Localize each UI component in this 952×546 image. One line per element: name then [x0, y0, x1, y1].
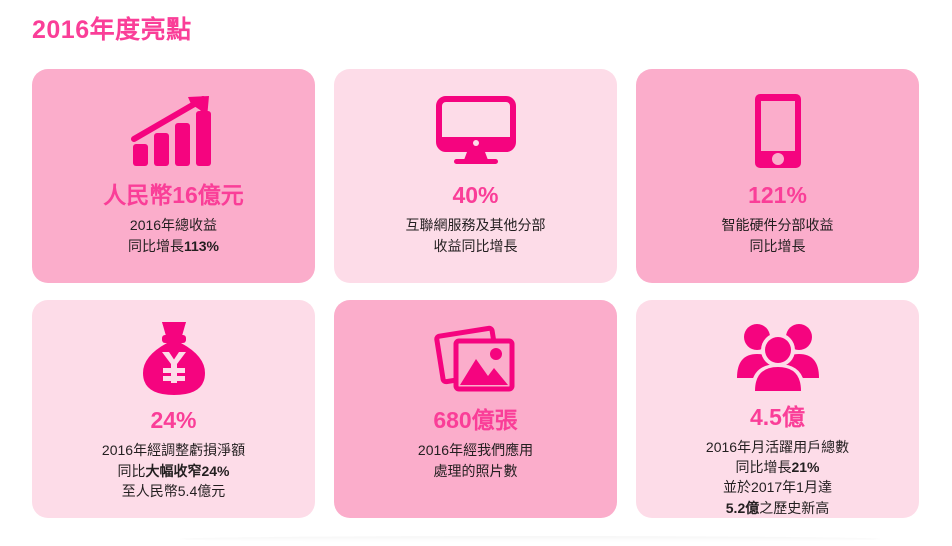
- stat-description: 2016年經我們應用 處理的照片數: [418, 440, 533, 481]
- photos-stack-icon: [434, 312, 518, 404]
- stat-description: 智能硬件分部收益 同比增長: [722, 215, 834, 256]
- stat-line: 處理的照片數: [418, 461, 533, 481]
- stat-description: 2016年總收益 同比增長113%: [128, 215, 219, 256]
- stat-line: 同比增長113%: [128, 236, 219, 256]
- monitor-icon: [434, 83, 518, 179]
- bar-chart-growth-icon: [131, 83, 217, 179]
- stat-value: 121%: [748, 183, 807, 208]
- page-shadow: [180, 536, 880, 542]
- stat-line: 2016年經調整虧損淨額: [102, 440, 245, 460]
- stat-line: 同比增長: [722, 236, 834, 256]
- smartphone-icon: [752, 83, 804, 179]
- stat-value: 24%: [150, 408, 196, 433]
- stat-line: 2016年總收益: [128, 215, 219, 235]
- highlights-grid: 人民幣16億元 2016年總收益 同比增長113%: [32, 69, 920, 518]
- infographic-page: 2016年度亮點 人民幣16: [0, 0, 952, 546]
- stat-description: 2016年經調整虧損淨額 同比大幅收窄24% 至人民幣5.4億元: [102, 440, 245, 501]
- stat-line: 至人民幣5.4億元: [102, 481, 245, 501]
- stat-value: 人民幣16億元: [103, 183, 244, 208]
- highlight-card-smart-hardware: 121% 智能硬件分部收益 同比增長: [636, 69, 919, 283]
- highlight-card-internet-services: 40% 互聯網服務及其他分部 收益同比增長: [334, 69, 617, 283]
- highlight-card-mau: 4.5億 2016年月活躍用戶總數 同比增長21% 並於2017年1月達 5.2…: [636, 300, 919, 518]
- stat-value: 680億張: [433, 408, 517, 433]
- stat-description: 2016年月活躍用戶總數 同比增長21% 並於2017年1月達 5.2億之歷史新…: [706, 437, 849, 518]
- stat-line: 2016年月活躍用戶總數: [706, 437, 849, 457]
- users-group-icon: [734, 312, 822, 401]
- stat-value: 4.5億: [750, 405, 805, 430]
- stat-description: 互聯網服務及其他分部 收益同比增長: [406, 215, 546, 256]
- stat-line: 互聯網服務及其他分部: [406, 215, 546, 235]
- stat-line: 收益同比增長: [406, 236, 546, 256]
- stat-line: 5.2億之歷史新高: [706, 498, 849, 518]
- highlight-card-revenue: 人民幣16億元 2016年總收益 同比增長113%: [32, 69, 315, 283]
- stat-line: 2016年經我們應用: [418, 440, 533, 460]
- highlight-card-adjusted-loss: 24% 2016年經調整虧損淨額 同比大幅收窄24% 至人民幣5.4億元: [32, 300, 315, 518]
- stat-line: 同比增長21%: [706, 457, 849, 477]
- page-title: 2016年度亮點: [32, 10, 192, 46]
- stat-value: 40%: [452, 183, 498, 208]
- stat-line: 並於2017年1月達: [706, 477, 849, 497]
- highlight-card-photos: 680億張 2016年經我們應用 處理的照片數: [334, 300, 617, 518]
- stat-line: 同比大幅收窄24%: [102, 461, 245, 481]
- stat-line: 智能硬件分部收益: [722, 215, 834, 235]
- money-bag-yen-icon: [135, 312, 213, 404]
